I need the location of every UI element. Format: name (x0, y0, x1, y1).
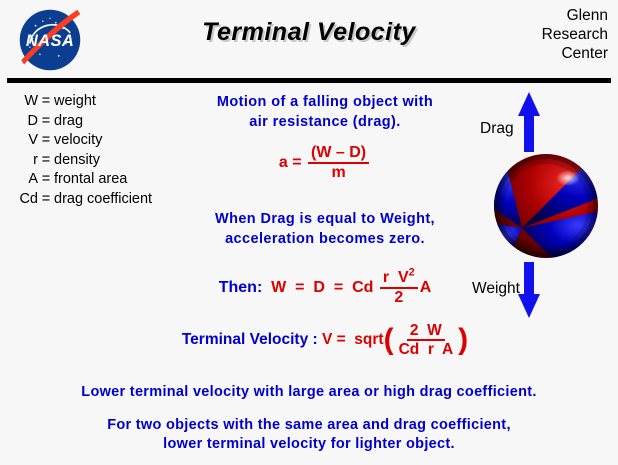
list-item: A = frontal area (8, 170, 188, 190)
then-label: Then: (219, 279, 263, 297)
drag-label: Drag (480, 120, 514, 138)
terminal-velocity-numerator: 2 W (407, 322, 445, 342)
page-header: NASA Terminal Velocity Glenn Research Ce… (0, 0, 618, 78)
acceleration-equals: = (292, 154, 301, 172)
variable-meaning: drag coefficient (54, 190, 152, 210)
variable-meaning: weight (54, 92, 96, 112)
variable-symbol: D (8, 112, 38, 132)
variable-meaning: density (54, 151, 100, 171)
paren-close: ) (458, 329, 468, 352)
drag-numerator-base: r V (383, 269, 409, 286)
list-item: W = weight (8, 92, 188, 112)
drag-equation-tail: A (420, 279, 432, 297)
equilibrium-line-1: When Drag is equal to Weight, (175, 209, 475, 229)
variable-equals: = (38, 151, 54, 171)
equilibrium-paragraph: When Drag is equal to Weight, accelerati… (175, 209, 475, 249)
variable-equals: = (38, 92, 54, 112)
acceleration-equation: a = (W – D) m (175, 144, 475, 183)
drag-equation-fraction: r V2 2 (380, 269, 418, 308)
variable-meaning: frontal area (54, 170, 127, 190)
header-divider (7, 78, 611, 83)
drag-numerator-exponent: 2 (409, 266, 415, 278)
drag-equation-lhs: W = D = Cd (271, 279, 373, 297)
acceleration-fraction: (W – D) m (308, 144, 369, 183)
paren-open: ( (384, 329, 394, 352)
variable-symbol: r (8, 151, 38, 171)
drag-equation-denominator: 2 (391, 289, 406, 307)
conclusion-line-2b: lower terminal velocity for lighter obje… (0, 435, 618, 454)
drag-equation-numerator: r V2 (380, 269, 418, 289)
terminal-velocity-denominator: Cd r A (396, 341, 457, 359)
variable-equals: = (38, 170, 54, 190)
list-item: Cd = drag coefficient (8, 190, 188, 210)
intro-line-1: Motion of a falling object with (175, 92, 475, 112)
up-arrow-icon (512, 90, 546, 152)
acceleration-denominator: m (328, 164, 348, 182)
variable-symbol: Cd (8, 190, 38, 210)
variable-meaning: drag (54, 112, 83, 132)
center-name-line2: Research (490, 25, 608, 44)
variable-equals: = (38, 112, 54, 132)
terminal-velocity-fraction: 2 W Cd r A (396, 322, 457, 360)
terminal-velocity-lhs: V = sqrt (322, 331, 384, 349)
center-name-line1: Glenn (490, 6, 608, 25)
list-item: V = velocity (8, 131, 188, 151)
sphere-icon (492, 152, 600, 260)
conclusions-block: Lower terminal velocity with large area … (0, 382, 618, 454)
variable-meaning: velocity (54, 131, 102, 151)
down-arrow-icon (512, 262, 546, 320)
list-item: r = density (8, 151, 188, 171)
explanation-column: Motion of a falling object with air resi… (175, 92, 475, 359)
nasa-center-name: Glenn Research Center (490, 6, 608, 63)
variable-equals: = (38, 190, 54, 210)
list-item: D = drag (8, 112, 188, 132)
variable-symbol: V (8, 131, 38, 151)
variable-key-list: W = weight D = drag V = velocity r = den… (8, 92, 188, 209)
terminal-velocity-label: Terminal Velocity : (182, 331, 318, 349)
intro-line-2: air resistance (drag). (175, 112, 475, 132)
falling-object-diagram: Drag Weight (472, 90, 618, 320)
conclusion-line-1: Lower terminal velocity with large area … (0, 382, 618, 402)
drag-equation: Then: W = D = Cd r V2 2 A (175, 269, 475, 308)
intro-paragraph: Motion of a falling object with air resi… (175, 92, 475, 132)
conclusion-line-2a: For two objects with the same area and d… (0, 416, 618, 435)
acceleration-lhs: a (279, 154, 288, 172)
variable-equals: = (38, 131, 54, 151)
variable-symbol: W (8, 92, 38, 112)
variable-symbol: A (8, 170, 38, 190)
conclusion-paragraph-2: For two objects with the same area and d… (0, 416, 618, 454)
center-name-line3: Center (490, 44, 608, 63)
terminal-velocity-equation: Terminal Velocity : V = sqrt ( 2 W Cd r … (175, 322, 475, 360)
acceleration-numerator: (W – D) (308, 144, 369, 164)
equilibrium-line-2: acceleration becomes zero. (175, 229, 475, 249)
